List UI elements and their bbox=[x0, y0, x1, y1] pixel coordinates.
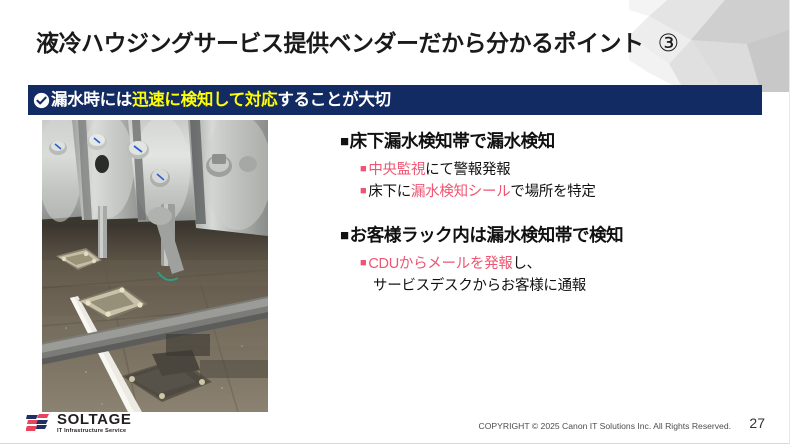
sub-2-pink: 漏水検知シール bbox=[411, 184, 510, 200]
bullet-group-1: ■床下漏水検知帯で漏水検知 ■中央監視にて警報発報 ■床下に漏水検知シールで場所… bbox=[340, 128, 780, 204]
check-circle-icon bbox=[33, 92, 50, 109]
headline-banner: 漏水時には迅速に検知して対応することが大切 bbox=[28, 85, 762, 115]
headline-text-after: することが大切 bbox=[277, 91, 390, 109]
square-marker-icon: ■ bbox=[340, 227, 349, 244]
page-number: 27 bbox=[749, 415, 765, 431]
square-marker-icon: ■ bbox=[360, 163, 366, 175]
content-column: ■床下漏水検知帯で漏水検知 ■中央監視にて警報発報 ■床下に漏水検知シールで場所… bbox=[340, 128, 780, 298]
slide-canvas: 液冷ハウジングサービス提供ベンダーだから分かるポイント③ 漏水時には迅速に検知し… bbox=[0, 0, 790, 444]
soltage-logo-wordmark: SOLTAGE IT Infrastructure Service bbox=[57, 412, 131, 435]
sub-3-pink: CDUからメールを発報 bbox=[368, 256, 512, 272]
sub-1-plain: にて警報発報 bbox=[425, 162, 510, 178]
square-marker-icon: ■ bbox=[360, 185, 366, 197]
copyright-text: COPYRIGHT © 2025 Canon IT Solutions Inc.… bbox=[479, 421, 731, 431]
sub-3-plain: し、 bbox=[512, 256, 540, 272]
soltage-logo: SOLTAGE IT Infrastructure Service bbox=[26, 412, 131, 435]
bullet-group-1-lead: ■床下漏水検知帯で漏水検知 bbox=[340, 128, 780, 153]
page-title: 液冷ハウジングサービス提供ベンダーだから分かるポイント③ bbox=[36, 24, 736, 58]
bullet-group-2-sub-1: ■CDUからメールを発報し、 bbox=[360, 253, 780, 275]
square-marker-icon: ■ bbox=[340, 133, 349, 150]
page-title-marker: ③ bbox=[658, 30, 679, 57]
bullet-group-1-sub-1: ■中央監視にて警報発報 bbox=[360, 159, 780, 181]
headline-text-before: 漏水時には bbox=[51, 91, 132, 109]
soltage-logo-mark-icon bbox=[26, 413, 50, 434]
bullet-group-2: ■お客様ラック内は漏水検知帯で検知 ■CDUからメールを発報し、 サービスデスク… bbox=[340, 222, 780, 298]
bullet-group-1-sub-2: ■床下に漏水検知シールで場所を特定 bbox=[360, 181, 780, 203]
headline-text-highlight: 迅速に検知して対応 bbox=[132, 91, 277, 109]
bullet-group-2-lead: ■お客様ラック内は漏水検知帯で検知 bbox=[340, 222, 780, 247]
underfloor-piping-photo: 漏水検知 シール bbox=[42, 120, 268, 412]
bullet-group-2-sub-1-continuation: サービスデスクからお客様に通報 bbox=[373, 275, 780, 297]
bullet-group-2-lead-text: お客様ラック内は漏水検知帯で検知 bbox=[350, 225, 624, 245]
bullet-group-1-lead-text: 床下漏水検知帯で漏水検知 bbox=[350, 131, 555, 151]
soltage-logo-tagline: IT Infrastructure Service bbox=[57, 429, 131, 435]
soltage-logo-name: SOLTAGE bbox=[57, 412, 131, 427]
sub-2-plain-before: 床下に bbox=[368, 184, 411, 200]
headline-text: 漏水時には迅速に検知して対応することが大切 bbox=[51, 92, 391, 109]
sub-1-pink: 中央監視 bbox=[368, 162, 425, 178]
square-marker-icon: ■ bbox=[360, 257, 366, 269]
sub-2-plain-after: で場所を特定 bbox=[510, 184, 595, 200]
page-title-text: 液冷ハウジングサービス提供ベンダーだから分かるポイント bbox=[36, 30, 644, 56]
